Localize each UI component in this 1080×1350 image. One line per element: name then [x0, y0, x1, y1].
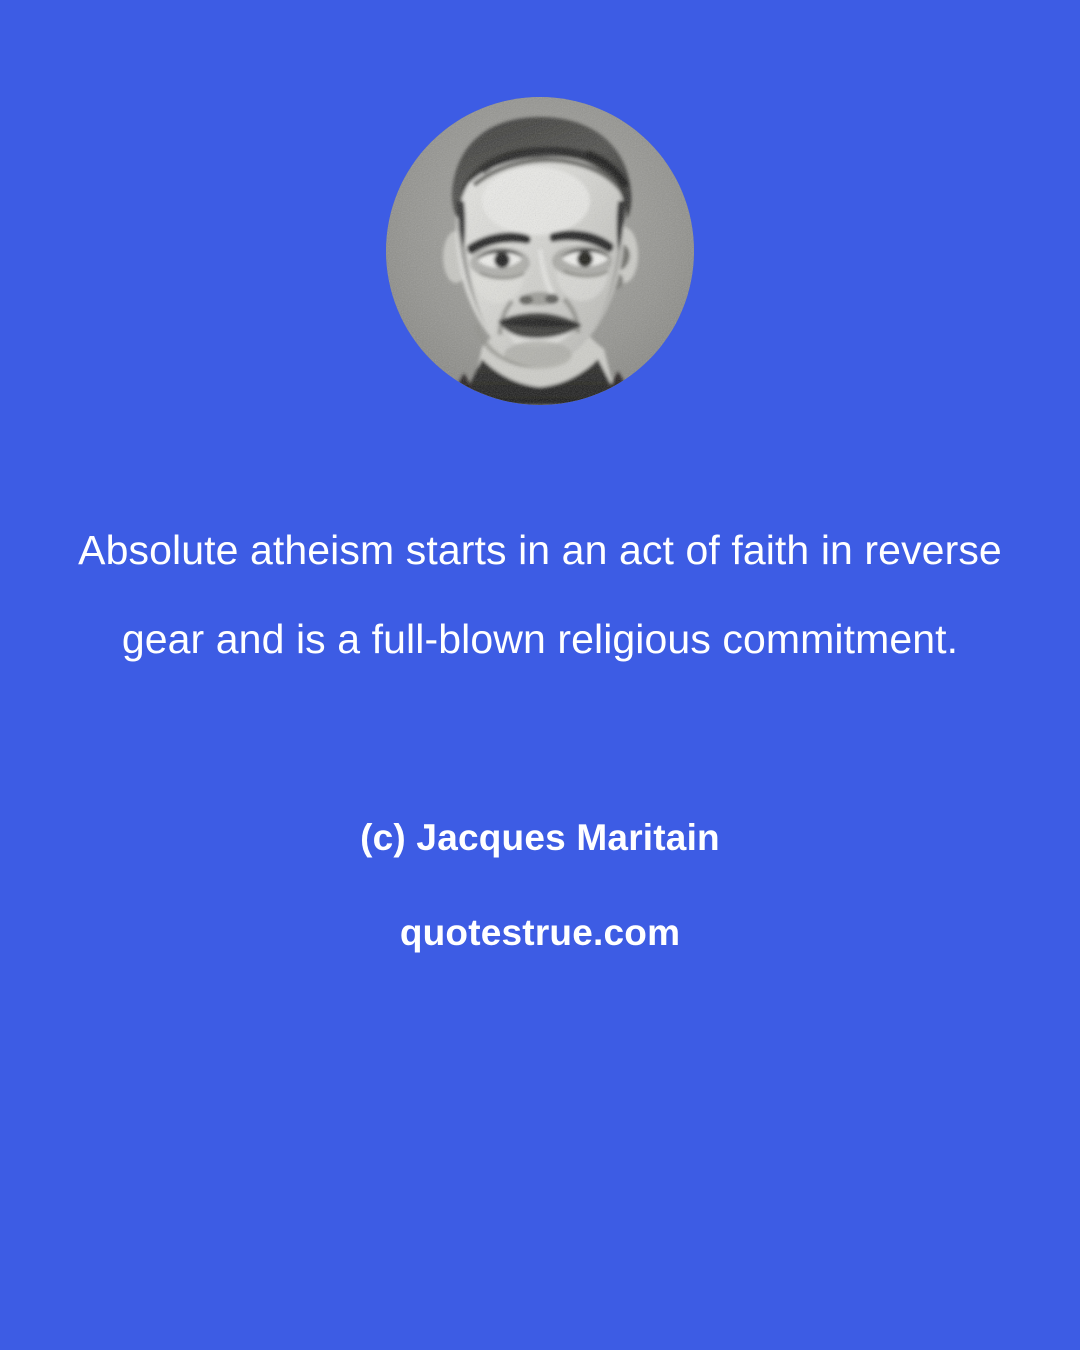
quote-card: Absolute atheism starts in an act of fai…: [0, 0, 1080, 1350]
quote-text: Absolute atheism starts in an act of fai…: [45, 506, 1035, 684]
quote-attribution: (c) Jacques Maritain: [45, 815, 1035, 861]
quote-content: Absolute atheism starts in an act of fai…: [0, 0, 1080, 1350]
site-watermark: quotestrue.com: [45, 910, 1035, 956]
